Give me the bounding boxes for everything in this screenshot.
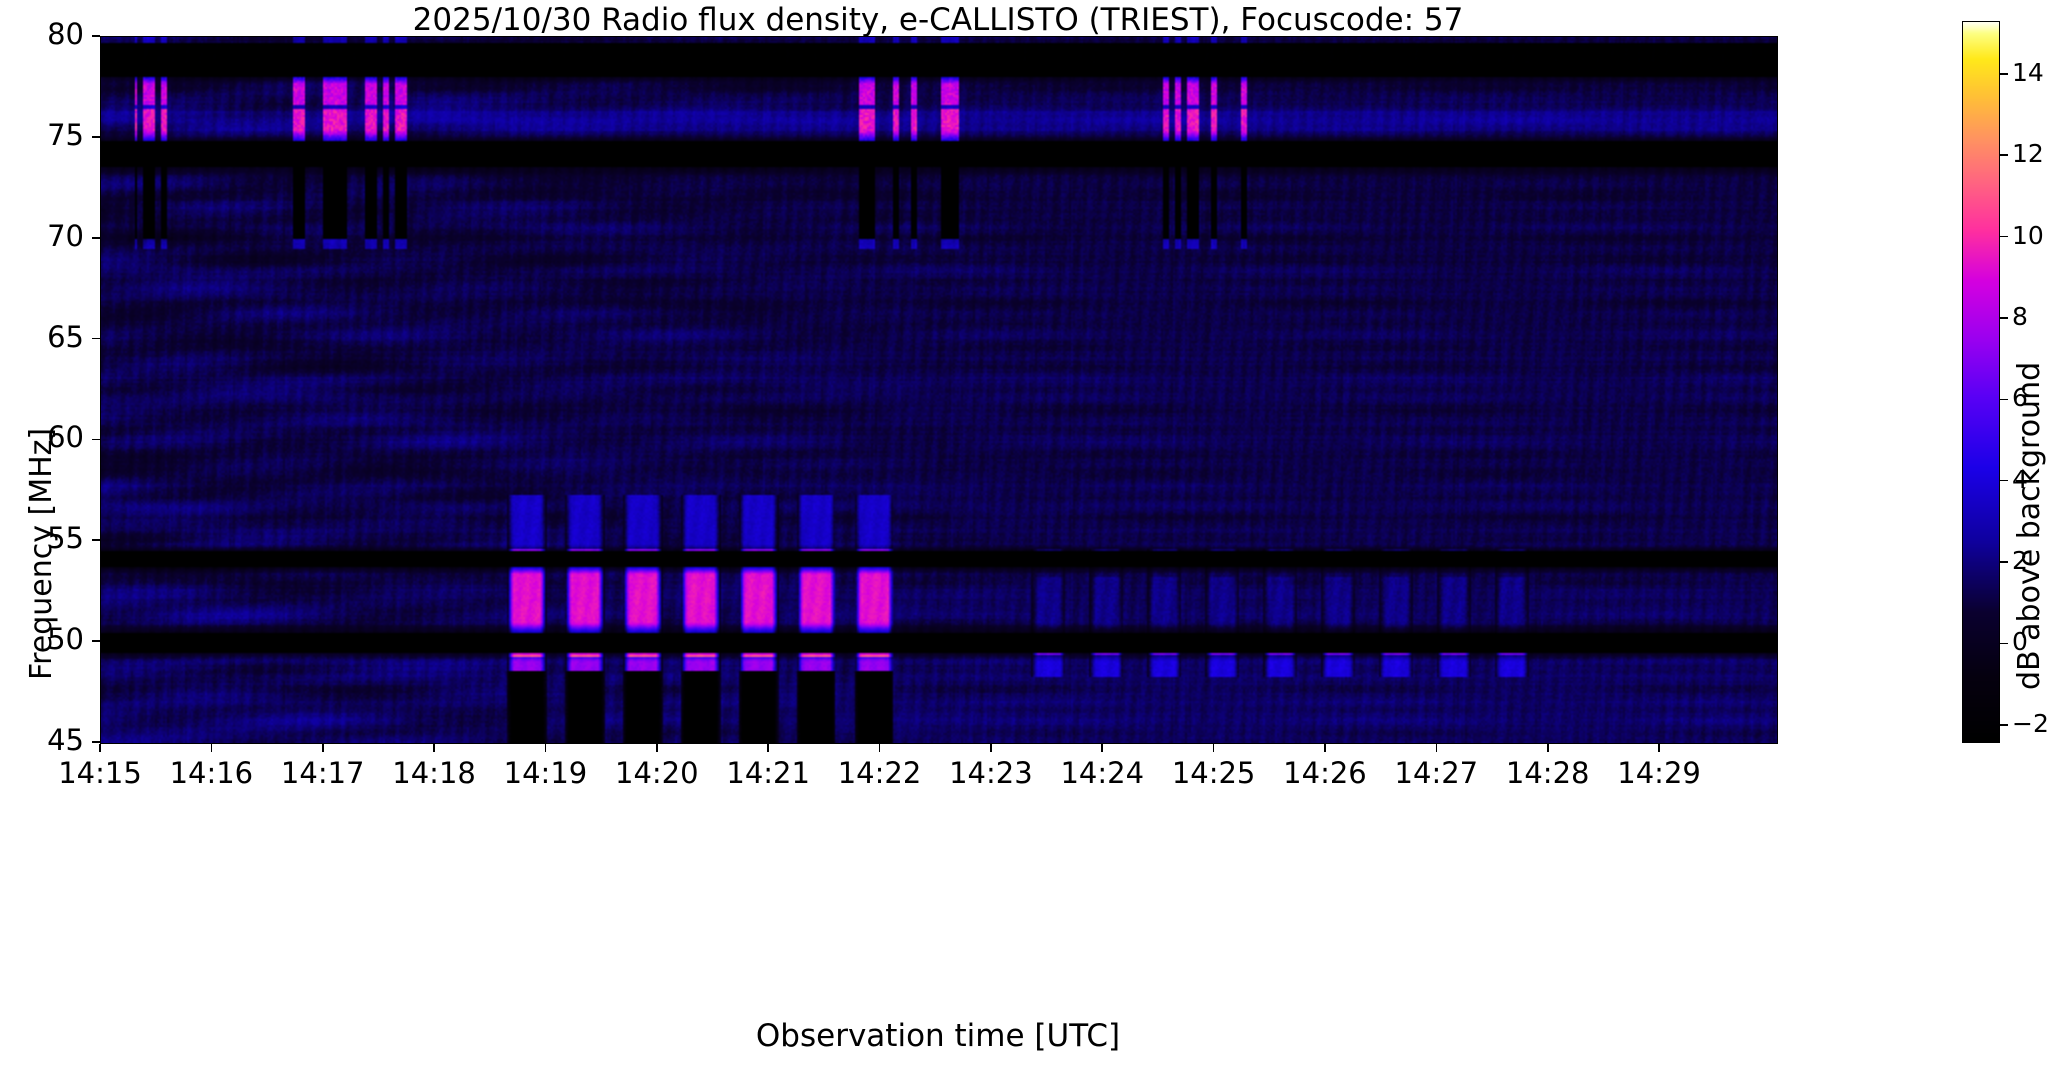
x-tick-mark: [99, 744, 101, 752]
y-tick-label: 65: [0, 320, 84, 354]
y-tick-mark: [92, 136, 100, 138]
x-tick-mark: [545, 744, 547, 752]
x-tick-mark: [879, 744, 881, 752]
x-tick-mark: [433, 744, 435, 752]
y-tick-label: 45: [0, 723, 84, 757]
x-tick-mark: [990, 744, 992, 752]
y-tick-label: 60: [0, 420, 84, 454]
figure-canvas: 2025/10/30 Radio flux density, e-CALLIST…: [0, 0, 2047, 1067]
colorbar-label: dB above background: [2012, 362, 2047, 690]
colorbar-tick-label: 8: [2012, 302, 2028, 331]
spectrogram-image: [101, 37, 1777, 743]
colorbar-tick-mark: [2000, 399, 2008, 401]
y-tick-mark: [92, 338, 100, 340]
x-tick-mark: [767, 744, 769, 752]
y-tick-label: 80: [0, 17, 84, 51]
x-tick-mark: [322, 744, 324, 752]
x-tick-mark: [1436, 744, 1438, 752]
x-axis-label: Observation time [UTC]: [100, 1018, 1776, 1054]
y-tick-mark: [92, 439, 100, 441]
colorbar-tick-label: 10: [2012, 221, 2044, 250]
colorbar: [1962, 21, 2000, 743]
y-tick-label: 50: [0, 622, 84, 656]
x-tick-mark: [1324, 744, 1326, 752]
colorbar-tick-label: 14: [2012, 58, 2044, 87]
y-tick-mark: [92, 237, 100, 239]
y-tick-mark: [92, 741, 100, 743]
y-tick-label: 70: [0, 219, 84, 253]
colorbar-tick-mark: [2000, 724, 2008, 726]
x-tick-mark: [211, 744, 213, 752]
x-tick-mark: [1213, 744, 1215, 752]
x-tick-mark: [1547, 744, 1549, 752]
x-tick-mark: [1101, 744, 1103, 752]
colorbar-tick-label: −2: [2012, 709, 2047, 738]
x-tick-label: 14:29: [1569, 756, 1749, 790]
colorbar-tick-mark: [2000, 154, 2008, 156]
y-tick-label: 55: [0, 521, 84, 555]
chart-title: 2025/10/30 Radio flux density, e-CALLIST…: [100, 2, 1776, 38]
y-tick-mark: [92, 539, 100, 541]
colorbar-tick-mark: [2000, 73, 2008, 75]
colorbar-gradient: [1963, 22, 1999, 742]
y-tick-mark: [92, 640, 100, 642]
colorbar-tick-label: 12: [2012, 139, 2044, 168]
x-tick-mark: [656, 744, 658, 752]
colorbar-tick-mark: [2000, 643, 2008, 645]
colorbar-tick-mark: [2000, 561, 2008, 563]
colorbar-tick-mark: [2000, 317, 2008, 319]
x-tick-mark: [1658, 744, 1660, 752]
spectrogram-axes: [100, 36, 1778, 744]
y-tick-mark: [92, 35, 100, 37]
colorbar-tick-mark: [2000, 480, 2008, 482]
colorbar-tick-mark: [2000, 236, 2008, 238]
y-tick-label: 75: [0, 118, 84, 152]
